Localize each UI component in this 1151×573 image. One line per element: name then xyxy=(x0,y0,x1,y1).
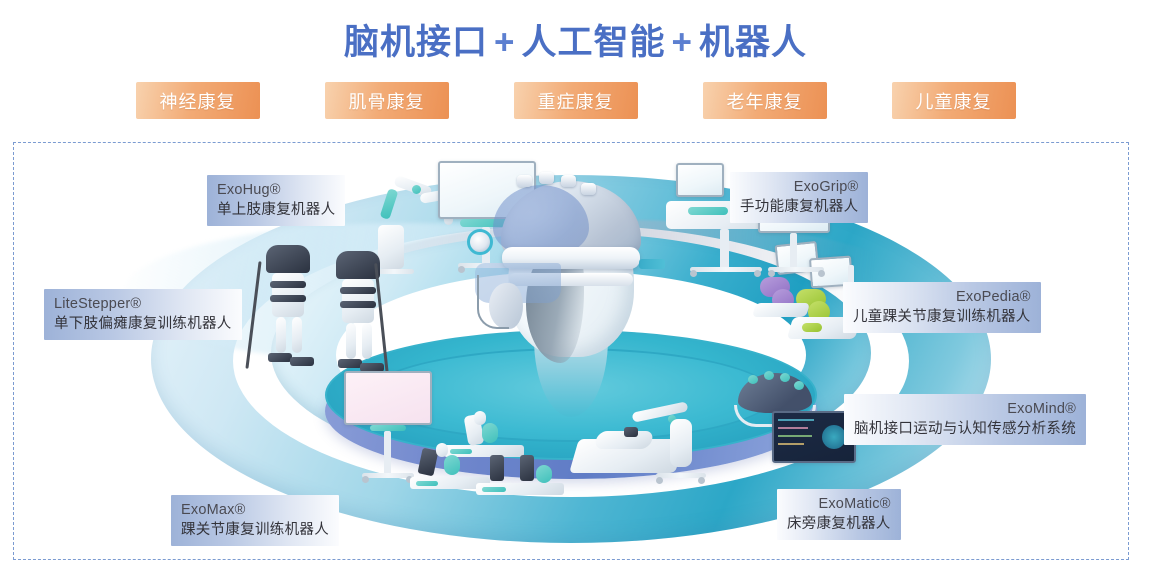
label-exogrip-name: 手功能康复机器人 xyxy=(740,197,858,217)
tag-neuro-rehab[interactable]: 神经康复 xyxy=(136,82,260,119)
device-gait-exoskeleton-1 xyxy=(254,245,324,375)
diagram-frame: ExoHug® 单上肢康复机器人 ExoGrip® 手功能康复机器人 LiteS… xyxy=(13,142,1129,560)
label-exogrip[interactable]: ExoGrip® 手功能康复机器人 xyxy=(730,172,868,223)
brand-logo-mark xyxy=(639,259,665,269)
eeg-electrode xyxy=(539,172,554,184)
title-part-ai: 人工智能 xyxy=(521,23,665,62)
eeg-electrode xyxy=(581,183,596,195)
label-exomind[interactable]: ExoMind® 脑机接口运动与认知传感分析系统 xyxy=(844,394,1086,445)
label-exohug[interactable]: ExoHug® 单上肢康复机器人 xyxy=(207,175,345,226)
title-plus-2: + xyxy=(666,23,699,62)
label-exomatic[interactable]: ExoMatic® 床旁康复机器人 xyxy=(777,489,901,540)
label-exomind-brand: ExoMind® xyxy=(854,399,1076,419)
page-title: 脑机接口+人工智能+机器人 xyxy=(0,14,1151,65)
category-tag-row: 神经康复 肌骨康复 重症康复 老年康复 儿童康复 xyxy=(0,82,1151,119)
title-part-bci: 脑机接口 xyxy=(344,23,488,62)
headset-mic-wire xyxy=(477,275,509,329)
label-exohug-name: 单上肢康复机器人 xyxy=(217,200,335,220)
bci-head-figure xyxy=(461,155,681,425)
device-gait-exoskeleton-2 xyxy=(324,251,394,381)
label-litestepper-name: 单下肢偏瘫康复训练机器人 xyxy=(54,314,232,334)
title-part-robot: 机器人 xyxy=(699,23,807,62)
tag-critical-care-rehab[interactable]: 重症康复 xyxy=(514,82,638,119)
tag-geriatric-rehab[interactable]: 老年康复 xyxy=(703,82,827,119)
label-exogrip-brand: ExoGrip® xyxy=(740,177,858,197)
label-exopedia-brand: ExoPedia® xyxy=(853,287,1031,307)
eeg-electrode xyxy=(517,175,532,187)
device-ankle-trainer-3 xyxy=(476,451,568,503)
label-exomax-name: 踝关节康复训练机器人 xyxy=(181,520,329,540)
label-exomatic-brand: ExoMatic® xyxy=(787,494,891,514)
label-exohug-brand: ExoHug® xyxy=(217,180,335,200)
eeg-electrode xyxy=(561,175,576,187)
label-exomatic-name: 床旁康复机器人 xyxy=(787,514,891,534)
label-exomind-name: 脑机接口运动与认知传感分析系统 xyxy=(854,419,1076,439)
label-litestepper-brand: LiteStepper® xyxy=(54,294,232,314)
label-exopedia-name: 儿童踝关节康复训练机器人 xyxy=(853,307,1031,327)
headset-side-pod xyxy=(467,229,493,255)
label-exomax[interactable]: ExoMax® 踝关节康复训练机器人 xyxy=(171,495,339,546)
label-exopedia[interactable]: ExoPedia® 儿童踝关节康复训练机器人 xyxy=(843,282,1041,333)
slide-page: 脑机接口+人工智能+机器人 神经康复 肌骨康复 重症康复 老年康复 儿童康复 xyxy=(0,0,1151,573)
tag-pediatric-rehab[interactable]: 儿童康复 xyxy=(892,82,1016,119)
label-exomax-brand: ExoMax® xyxy=(181,500,329,520)
title-plus-1: + xyxy=(488,23,521,62)
ecosystem-scene: ExoHug® 单上肢康复机器人 ExoGrip® 手功能康复机器人 LiteS… xyxy=(14,143,1128,559)
tag-musculoskeletal-rehab[interactable]: 肌骨康复 xyxy=(325,82,449,119)
label-litestepper[interactable]: LiteStepper® 单下肢偏瘫康复训练机器人 xyxy=(44,289,242,340)
